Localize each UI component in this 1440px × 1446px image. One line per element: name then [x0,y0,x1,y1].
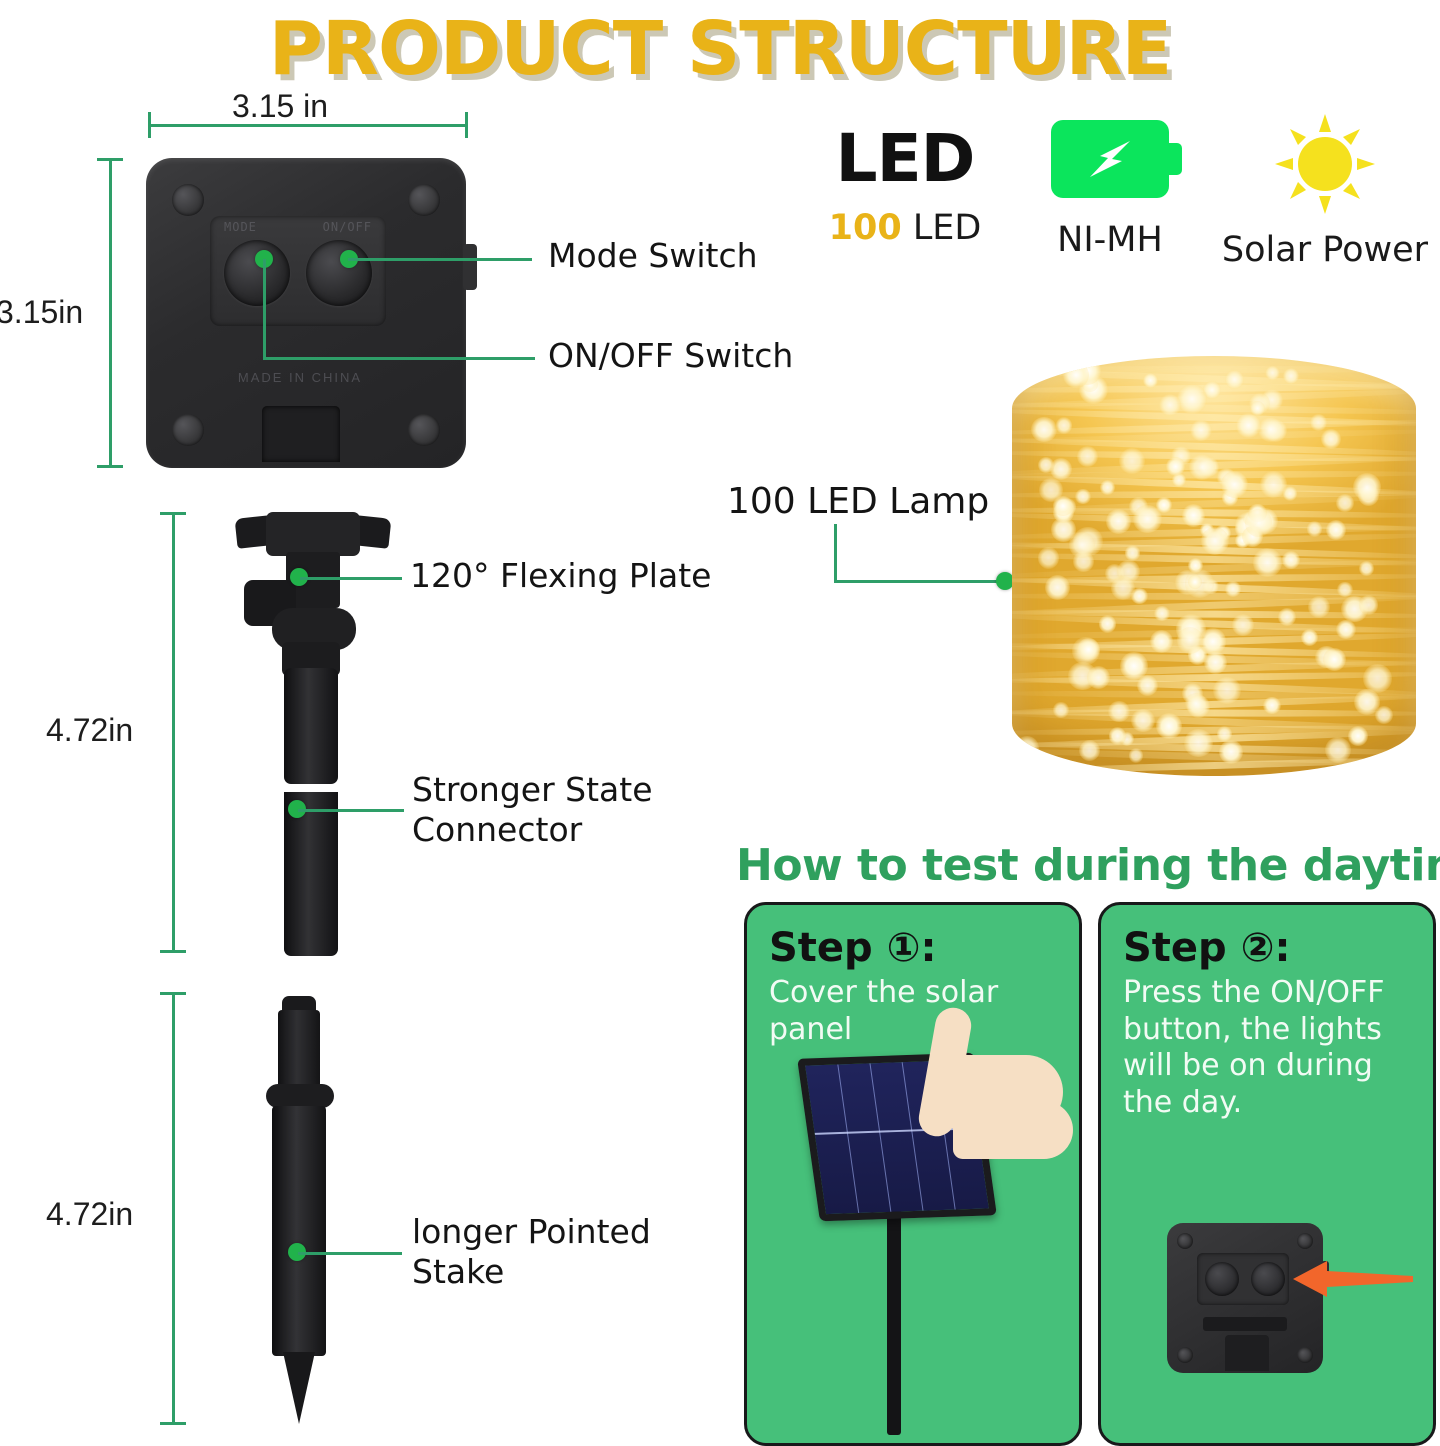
step-1-heading: Step ①: [769,925,936,971]
callout-label-pointed-stake: longer Pointed Stake [412,1212,651,1293]
panel-side-tab [463,244,477,290]
callout-line-connector [298,809,404,812]
led-bulb [1177,384,1207,414]
led-bulb [1310,414,1327,431]
led-bulb [1253,548,1282,577]
led-bulb [1217,726,1232,741]
led-bulb [1190,420,1212,442]
step-2-body: Press the ON/OFF button, the lights will… [1123,975,1415,1121]
lightning-bolt-icon [1078,135,1142,183]
led-bulb [1133,505,1161,533]
coil-callout-line-h [834,580,1004,583]
badge-led-count: LED 100 LED [815,126,995,248]
callout-line-pointed-stake [298,1252,402,1255]
led-bulb [1125,545,1140,560]
step-card-1[interactable]: Step ①: Cover the solar panel [744,902,1082,1446]
panel-width-dimension-label: 3.15 in [232,88,328,125]
led-bulb [1265,366,1279,380]
solar-panel-back-icon: MODE ON/OFF MADE IN CHINA [146,158,466,468]
led-count-caption: LED [913,208,982,248]
led-bulb [1337,582,1352,597]
led-bulb [1336,620,1356,640]
howto-section: How to test during the daytime? Step ①: … [736,840,1440,891]
led-bulb [1100,480,1114,494]
led-bulb [1201,527,1229,555]
led-bulb [1099,615,1117,633]
led-bulb [1015,736,1039,760]
led-bulb [1087,666,1110,689]
callout-line-mode-switch-h [263,357,535,360]
stake-label-line2: Stake [412,1252,504,1291]
screw-icon [172,414,204,446]
led-coil-icon [1000,338,1430,796]
led-bulb [1359,561,1374,576]
led-bulb [1177,627,1203,653]
orange-arrow-icon [1293,1257,1413,1301]
led-bulb [1166,457,1185,476]
led-bulb [1079,740,1100,761]
panel-height-dimension-line [109,158,112,468]
feature-badge-row: LED 100 LED NI-MH [815,120,1435,300]
led-bulb [1263,697,1281,715]
power-button-icon[interactable] [306,240,372,306]
led-count-value: 100 [829,208,902,248]
led-bulb [1038,547,1059,568]
callout-line-flexing-plate [300,577,402,580]
led-bulb [1323,648,1346,671]
led-bulb [1325,737,1351,763]
led-bulb [1321,429,1341,449]
page-title: PRODUCT STRUCTURE [0,6,1440,92]
led-bulb [1143,373,1158,388]
screw-icon [408,184,440,216]
led-bulb [1182,504,1205,527]
made-in-emboss-label: MADE IN CHINA [200,370,400,385]
step-1-body: Cover the solar panel [769,975,1061,1048]
screw-icon [408,414,440,446]
battery-caption: NI-MH [1025,220,1195,260]
led-bulb [1232,614,1254,636]
led-bulb [1150,630,1173,653]
onoff-emboss-label: ON/OFF [323,220,372,234]
callout-line-mode-switch-v [263,259,266,359]
led-headline: LED [815,126,995,192]
panel-height-dimension-label: 3.15in [0,294,83,331]
callout-label-connector: Stronger State Connector [412,770,653,851]
led-bulb [1301,629,1318,646]
stake-bottom-dimension-label: 4.72in [46,1196,133,1233]
led-bulb [1184,729,1212,757]
led-bulb [1375,706,1393,724]
led-bulb [1156,713,1182,739]
solar-caption: Solar Power [1215,230,1435,270]
coil-count: 100 [727,481,796,522]
stake-mid-dimension-line [172,512,175,953]
screw-icon [172,184,204,216]
sun-icon [1273,112,1377,216]
led-bulb [1363,664,1392,693]
led-bulb [1258,417,1283,442]
led-bulb [1056,417,1072,433]
led-bulb [1353,473,1381,501]
led-bulb [1031,417,1056,442]
badge-power-source: Solar Power [1215,112,1435,270]
led-bulb [1348,726,1368,746]
step-card-2[interactable]: Step ②: Press the ON/OFF button, the lig… [1098,902,1436,1446]
button-plate: MODE ON/OFF [210,216,386,326]
mode-button-icon[interactable] [224,240,290,306]
led-bulb [1185,693,1206,714]
led-bulb [1053,702,1068,717]
coil-label: LED Lamp [807,481,989,522]
stake-mid-dimension-label: 4.72in [46,712,133,749]
led-bulb [1213,677,1240,704]
stake-label-line1: longer Pointed [412,1212,651,1251]
connector-label-line1: Stronger State [412,770,653,809]
led-bulb [1221,471,1248,498]
led-bulb [1131,709,1155,733]
led-bulb [1236,413,1261,438]
connector-label-line2: Connector [412,810,582,849]
howto-heading: How to test during the daytime? [736,840,1440,891]
flexing-plate-stake-icon [228,508,398,956]
led-bulb [1108,701,1130,723]
coil-callout-line-v [834,524,837,582]
led-bulb [1245,509,1272,536]
callout-line-onoff-switch [348,258,532,261]
led-bulb [1359,595,1378,614]
callout-label-flexing-plate: 120° Flexing Plate [410,556,711,596]
led-bulb [1039,478,1063,502]
led-bulb [1077,446,1098,467]
led-bulb [1283,368,1299,384]
panel-port [262,406,340,462]
stake-bottom-dimension-line [172,992,175,1425]
pointed-stake-icon [250,996,360,1426]
led-bulb [1225,370,1244,389]
coil-callout-label: 100 LED Lamp [727,480,989,524]
led-bulb [1278,608,1296,626]
led-bulb [1225,581,1241,597]
badge-battery-type: NI-MH [1025,120,1195,260]
led-bulb [1154,606,1169,621]
panel-width-dimension-line [148,124,468,127]
mode-emboss-label: MODE [224,220,257,234]
led-bulb [1260,471,1287,498]
led-bulb [1336,494,1354,512]
led-bulb [1282,551,1300,569]
callout-label-onoff-switch: ON/OFF Switch [548,336,793,376]
led-bulb [1375,361,1394,380]
callout-label-mode-switch: Mode Switch [548,236,758,276]
battery-bolt-icon [1051,120,1169,198]
led-bulb [1063,362,1089,388]
led-bulb [1129,748,1143,762]
led-bulb [1075,489,1091,505]
step-2-heading: Step ②: [1123,925,1290,971]
